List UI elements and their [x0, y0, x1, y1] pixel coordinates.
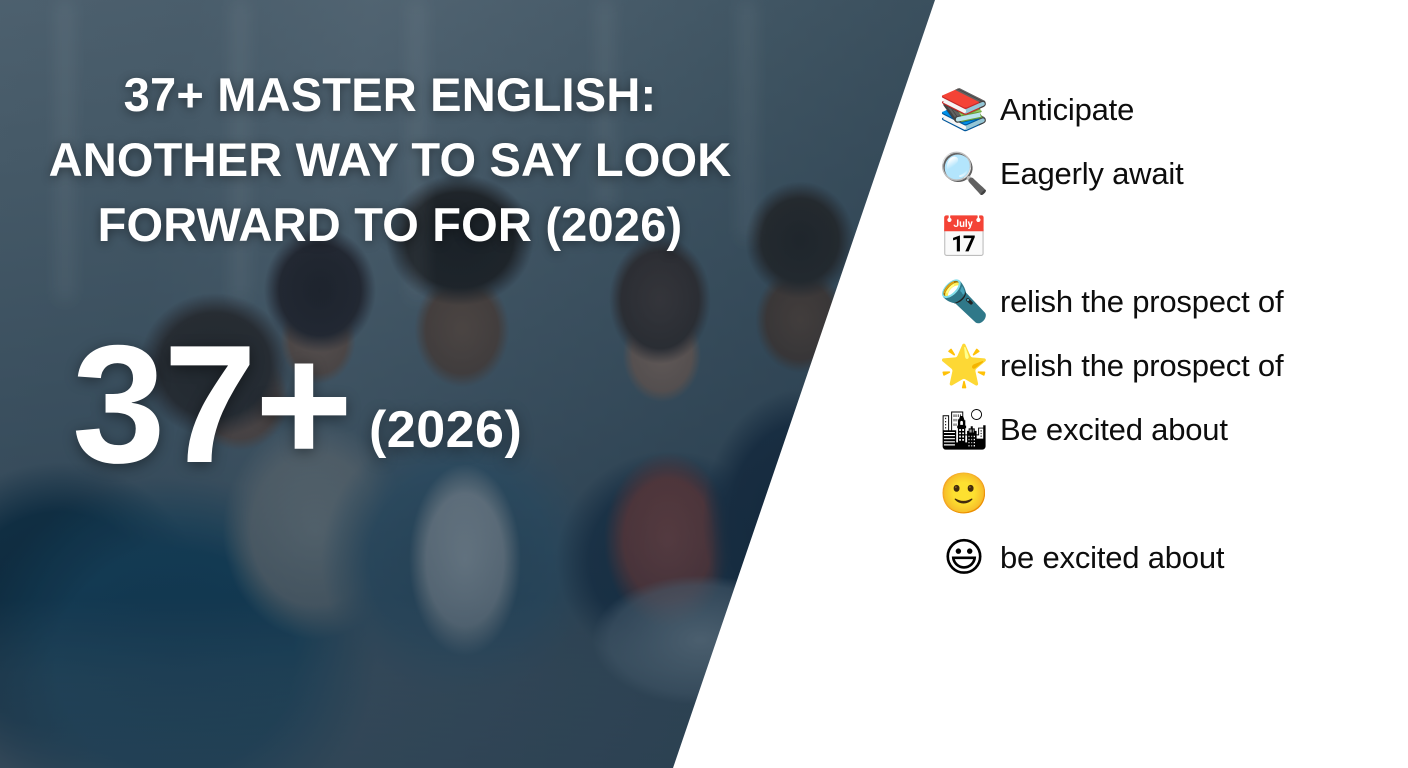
- big-number-value: 37+: [72, 336, 351, 474]
- list-item[interactable]: 🙂: [928, 462, 1408, 526]
- slide-canvas: 37+ Master English: Another way to say l…: [0, 0, 1408, 768]
- synonym-list: 📚 Anticipate 🔍 Eagerly await 📅 🔦 relish …: [928, 78, 1408, 590]
- grinning-face-icon: 😃: [938, 538, 990, 578]
- list-item[interactable]: 📚 Anticipate: [928, 78, 1408, 142]
- list-item-label: Be excited about: [1000, 412, 1228, 448]
- big-number-year: (2026): [369, 404, 522, 456]
- list-item[interactable]: 🔦 relish the prospect of: [928, 270, 1408, 334]
- calendar-icon: 📅: [938, 218, 990, 258]
- books-pencil-icon: 📚: [938, 90, 990, 130]
- list-item-label: relish the prospect of: [1000, 284, 1283, 320]
- green-flashlight-icon: 🔦: [938, 282, 990, 322]
- list-item-label: Anticipate: [1000, 92, 1134, 128]
- synonym-list-panel: 📚 Anticipate 🔍 Eagerly await 📅 🔦 relish …: [928, 0, 1408, 768]
- glowing-star-icon: 🌟: [938, 346, 990, 386]
- magnifying-glass-icon: 🔍: [938, 154, 990, 194]
- list-item-label: be excited about: [1000, 540, 1224, 576]
- list-item-label: Eagerly await: [1000, 156, 1184, 192]
- page-title: 37+ Master English: Another way to say l…: [0, 62, 780, 257]
- list-item[interactable]: 😃 be excited about: [928, 526, 1408, 590]
- list-item[interactable]: 📅: [928, 206, 1408, 270]
- list-item[interactable]: 🌟 relish the prospect of: [928, 334, 1408, 398]
- big-number-block: 37+ (2026): [72, 336, 522, 474]
- list-item-label: relish the prospect of: [1000, 348, 1283, 384]
- bar-chart-buildings-icon: 🏙: [938, 410, 990, 450]
- list-item[interactable]: 🔍 Eagerly await: [928, 142, 1408, 206]
- list-item[interactable]: 🏙 Be excited about: [928, 398, 1408, 462]
- slightly-smiling-face-icon: 🙂: [938, 474, 990, 514]
